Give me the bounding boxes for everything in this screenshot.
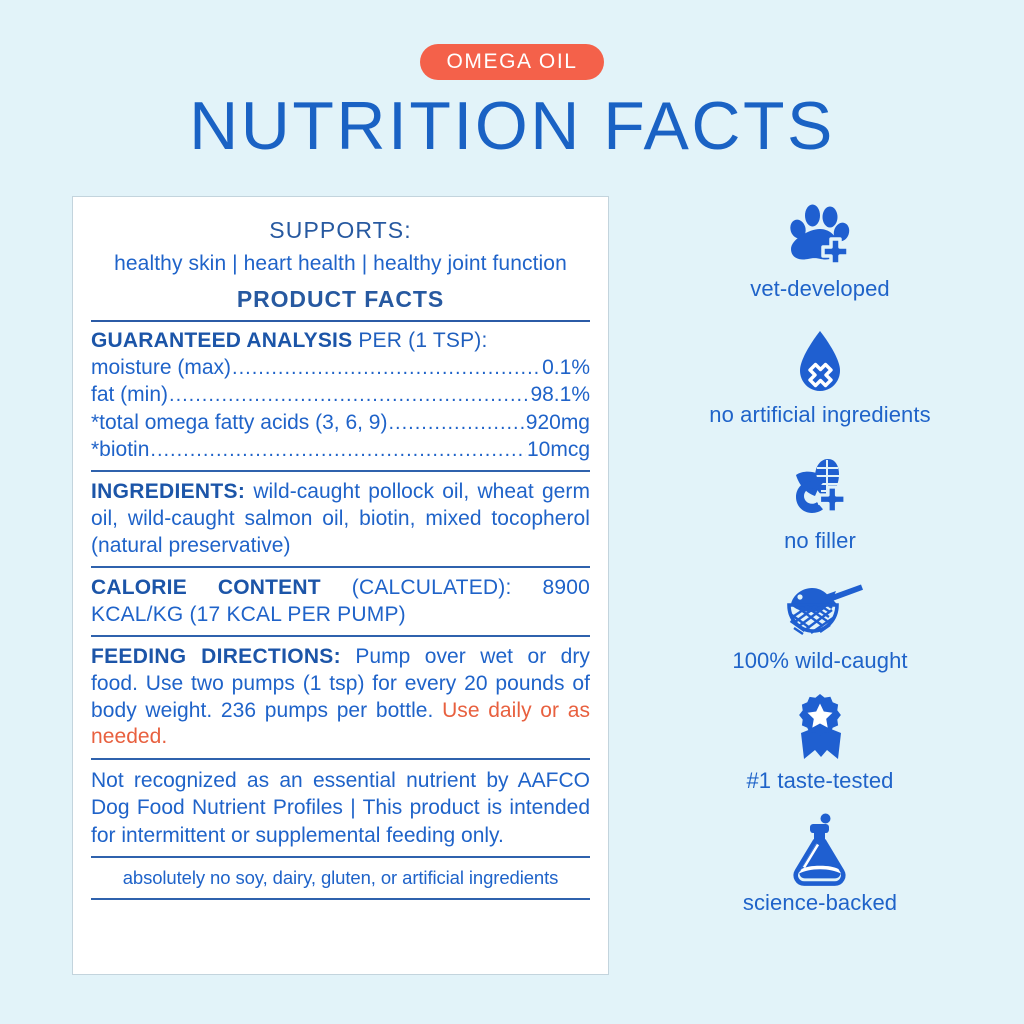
analysis-value: 920mg bbox=[526, 409, 590, 436]
benefit-badge-label: no filler bbox=[640, 528, 1000, 554]
divider bbox=[91, 320, 590, 322]
divider bbox=[91, 856, 590, 858]
feeding-directions-section: FEEDING DIRECTIONS: Pump over wet or dry… bbox=[91, 644, 590, 751]
benefit-badge-science-backed: science-backed bbox=[640, 814, 1000, 916]
guaranteed-analysis-heading-rest: PER (1 TSP): bbox=[352, 329, 487, 352]
benefit-badge-label: science-backed bbox=[640, 890, 1000, 916]
benefit-badge-taste-tested: #1 taste-tested bbox=[640, 692, 1000, 794]
analysis-row: fat (min) ..............................… bbox=[91, 381, 590, 408]
product-facts-heading: PRODUCT FACTS bbox=[91, 286, 590, 313]
page-title: NUTRITION FACTS bbox=[0, 90, 1024, 163]
feeding-directions-label: FEEDING DIRECTIONS: bbox=[91, 645, 341, 668]
analysis-row: moisture (max) .........................… bbox=[91, 354, 590, 381]
divider bbox=[91, 635, 590, 637]
product-category-badge: OMEGA OIL bbox=[420, 44, 603, 80]
ingredients-section: INGREDIENTS: wild-caught pollock oil, wh… bbox=[91, 479, 590, 559]
calorie-content-label: CALORIE CONTENT bbox=[91, 576, 321, 599]
corn-x-icon bbox=[640, 452, 1000, 524]
analysis-value: 0.1% bbox=[542, 354, 590, 381]
benefit-badge-label: no artificial ingredients bbox=[640, 402, 1000, 428]
leader-dots: ........................................… bbox=[232, 355, 541, 381]
benefit-badge-wild-caught: 100% wild-caught bbox=[640, 572, 1000, 674]
leader-dots: ........................................… bbox=[150, 437, 526, 463]
divider bbox=[91, 898, 590, 900]
divider bbox=[91, 566, 590, 568]
benefit-badge-vet-developed: vet-developed bbox=[640, 200, 1000, 302]
ingredients-label: INGREDIENTS: bbox=[91, 480, 245, 503]
analysis-label: moisture (max) bbox=[91, 354, 231, 381]
page-content: SUPPORTS: healthy skin | heart health | … bbox=[0, 196, 1024, 1024]
benefit-badge-no-filler: no filler bbox=[640, 452, 1000, 554]
nutrition-facts-card: SUPPORTS: healthy skin | heart health | … bbox=[72, 196, 609, 975]
guaranteed-analysis-heading: GUARANTEED ANALYSIS PER (1 TSP): bbox=[91, 329, 590, 353]
aafco-disclaimer: Not recognized as an essential nutrient … bbox=[91, 767, 590, 849]
supports-list: healthy skin | heart health | healthy jo… bbox=[91, 252, 590, 276]
droplet-x-icon bbox=[640, 326, 1000, 398]
supports-heading: SUPPORTS: bbox=[91, 217, 590, 244]
flask-icon bbox=[640, 814, 1000, 886]
free-from-footnote: absolutely no soy, dairy, gluten, or art… bbox=[91, 865, 590, 891]
fish-net-icon bbox=[640, 572, 1000, 644]
benefit-badges-list: vet-developed no artificial ingredients bbox=[640, 196, 1000, 975]
leader-dots: ........................................… bbox=[169, 382, 529, 408]
analysis-label: fat (min) bbox=[91, 381, 168, 408]
analysis-value: 98.1% bbox=[530, 381, 590, 408]
guaranteed-analysis-section: GUARANTEED ANALYSIS PER (1 TSP): moistur… bbox=[91, 329, 590, 463]
analysis-label: *biotin bbox=[91, 436, 149, 463]
paw-plus-icon bbox=[640, 200, 1000, 272]
guaranteed-analysis-heading-bold: GUARANTEED ANALYSIS bbox=[91, 329, 352, 352]
page-header: OMEGA OIL NUTRITION FACTS bbox=[0, 0, 1024, 163]
analysis-label: *total omega fatty acids (3, 6, 9) bbox=[91, 409, 387, 436]
divider bbox=[91, 758, 590, 760]
analysis-row: *total omega fatty acids (3, 6, 9) .....… bbox=[91, 409, 590, 436]
benefit-badge-no-artificial: no artificial ingredients bbox=[640, 326, 1000, 428]
benefit-badge-label: 100% wild-caught bbox=[640, 648, 1000, 674]
benefit-badge-label: vet-developed bbox=[640, 276, 1000, 302]
divider bbox=[91, 470, 590, 472]
analysis-value: 10mcg bbox=[527, 436, 590, 463]
award-ribbon-icon bbox=[640, 692, 1000, 764]
analysis-row: *biotin ................................… bbox=[91, 436, 590, 463]
leader-dots: ........................................… bbox=[388, 410, 524, 436]
calorie-content-section: CALORIE CONTENT (CALCULATED): 8900 KCAL/… bbox=[91, 575, 590, 628]
benefit-badge-label: #1 taste-tested bbox=[640, 768, 1000, 794]
